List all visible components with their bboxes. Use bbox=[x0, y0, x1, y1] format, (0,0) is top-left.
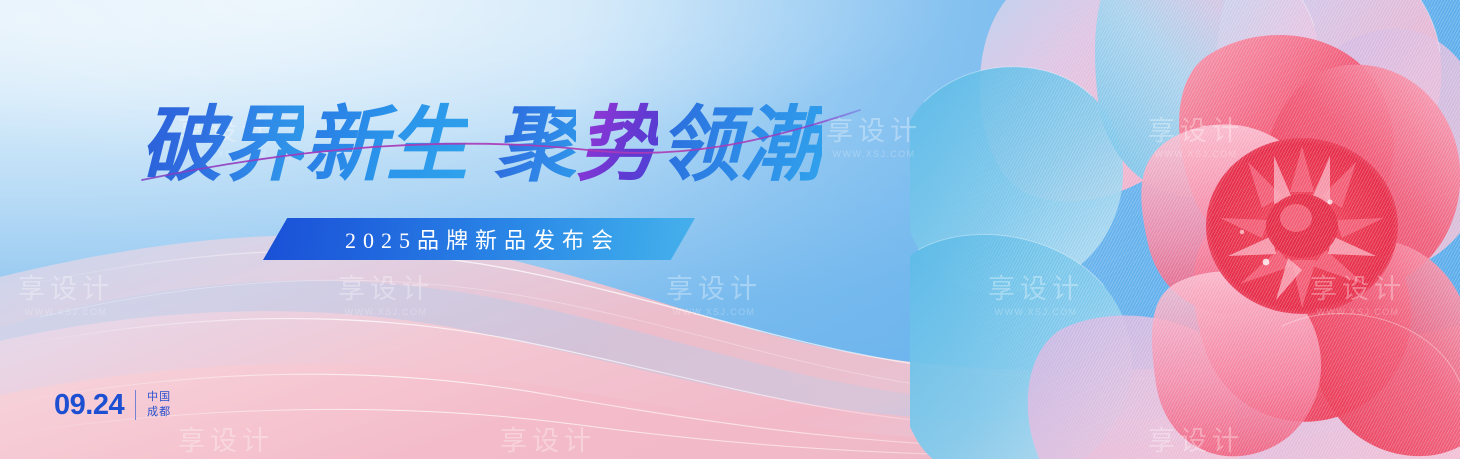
headline-text: 破界新生聚势领潮 bbox=[140, 96, 840, 196]
event-date-block: 09.24 中国 成都 bbox=[54, 390, 171, 420]
promotional-banner: 享设计 WWW.XSJ.COM 享设计 WWW.XSJ.COM 享设计 WWW.… bbox=[0, 0, 1460, 459]
headline-segment-3: 聚 bbox=[494, 96, 576, 196]
event-date: 09.24 bbox=[54, 391, 124, 420]
dahlia-flower-graphic bbox=[910, 0, 1460, 459]
ribbon-label: 2025品牌新品发布会 bbox=[338, 223, 620, 255]
headline-segment-2: 新生 bbox=[304, 96, 468, 196]
event-location: 中国 成都 bbox=[147, 391, 171, 418]
headline-segment-1: 破界 bbox=[140, 96, 304, 196]
headline-segment-4: 势 bbox=[576, 96, 658, 196]
date-divider bbox=[135, 390, 136, 420]
location-country: 中国 bbox=[147, 391, 171, 404]
location-city: 成都 bbox=[147, 406, 171, 419]
headline-block: 破界新生聚势领潮 bbox=[140, 96, 840, 196]
subtitle-ribbon: 2025品牌新品发布会 bbox=[263, 218, 695, 260]
headline-segment-5: 领潮 bbox=[658, 96, 822, 196]
